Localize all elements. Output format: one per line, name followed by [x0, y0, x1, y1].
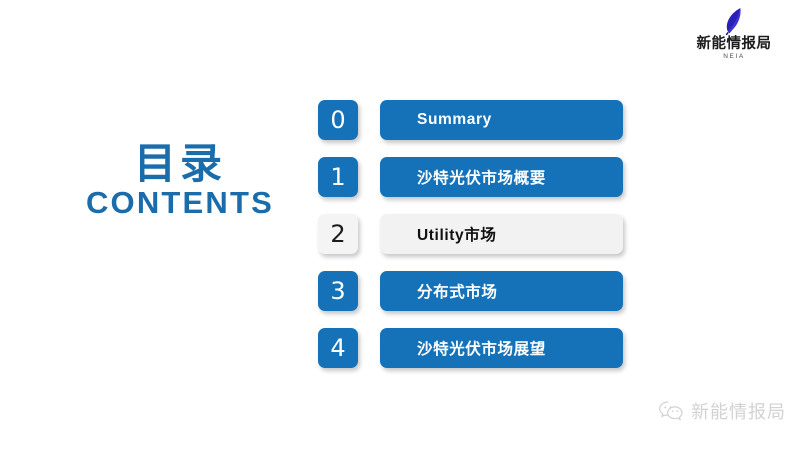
wechat-icon	[658, 400, 684, 422]
toc-number-badge: 2	[318, 214, 358, 254]
toc-bar[interactable]: 沙特光伏市场展望	[380, 328, 623, 368]
toc-item-label: Summary	[380, 111, 492, 129]
toc-item-1[interactable]: 1 沙特光伏市场概要	[318, 157, 623, 197]
toc-item-label: 沙特光伏市场概要	[380, 166, 546, 188]
title-chinese: 目录	[78, 143, 282, 185]
brand-subtitle: NEIA	[680, 54, 788, 61]
toc-item-label: 分布式市场	[380, 280, 498, 302]
brand-logo: 新能情报局 NEIA	[680, 6, 788, 61]
toc-bar[interactable]: 沙特光伏市场概要	[380, 157, 623, 197]
slide-canvas: 新能情报局 NEIA 目录 CONTENTS 0 Summary 1 沙特光伏市…	[0, 0, 800, 450]
toc-item-label: Utility市场	[380, 223, 496, 245]
toc-bar[interactable]: 分布式市场	[380, 271, 623, 311]
toc-number-badge: 4	[318, 328, 358, 368]
toc-item-4[interactable]: 4 沙特光伏市场展望	[318, 328, 623, 368]
feather-icon	[721, 6, 747, 36]
brand-name: 新能情报局	[680, 37, 788, 52]
toc-number-badge: 0	[318, 100, 358, 140]
page-title: 目录 CONTENTS	[78, 143, 282, 220]
toc-number-badge: 1	[318, 157, 358, 197]
toc-bar[interactable]: Summary	[380, 100, 623, 140]
toc-number-badge: 3	[318, 271, 358, 311]
toc-item-label: 沙特光伏市场展望	[380, 337, 546, 359]
toc-item-2[interactable]: 2 Utility市场	[318, 214, 623, 254]
contents-list: 0 Summary 1 沙特光伏市场概要 2 Utility市场 3 分布式市场…	[318, 100, 623, 368]
toc-bar[interactable]: Utility市场	[380, 214, 623, 254]
toc-item-0[interactable]: 0 Summary	[318, 100, 623, 140]
title-english: CONTENTS	[78, 187, 282, 220]
wechat-watermark: 新能情报局	[658, 398, 786, 424]
watermark-label: 新能情报局	[691, 398, 786, 424]
toc-item-3[interactable]: 3 分布式市场	[318, 271, 623, 311]
